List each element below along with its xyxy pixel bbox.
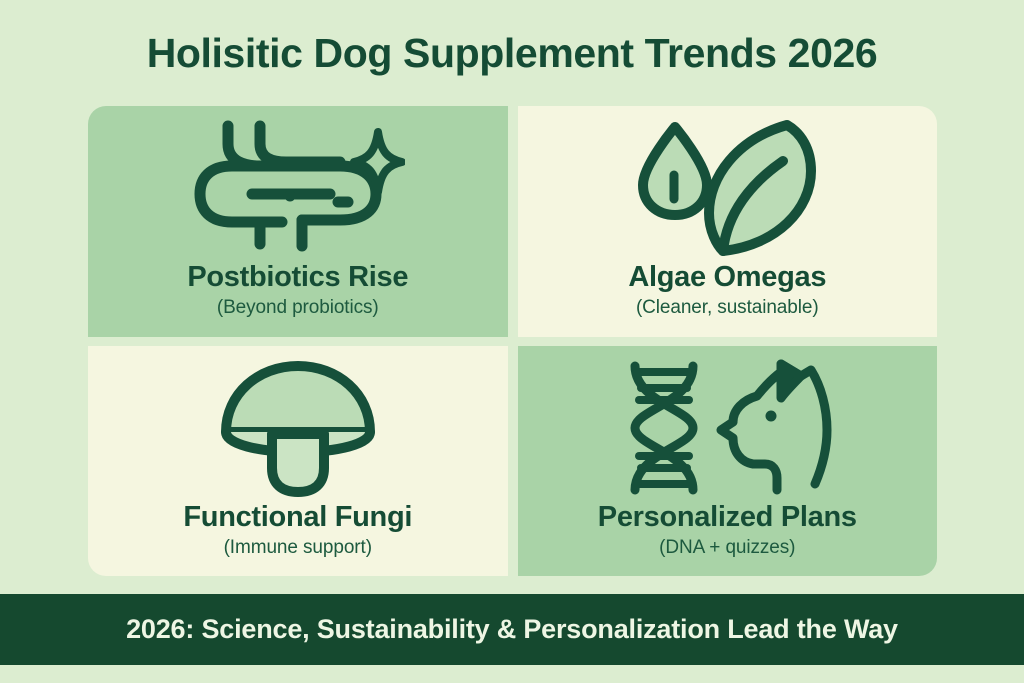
card-functional-fungi[interactable]: Functional Fungi (Immune support) xyxy=(88,346,508,577)
card-algae-omegas[interactable]: Algae Omegas (Cleaner, sustainable) xyxy=(518,106,938,337)
card-subtitle: (DNA + quizzes) xyxy=(659,537,795,559)
intestine-sparkle-icon xyxy=(190,114,405,262)
card-title: Algae Omegas xyxy=(628,262,826,292)
droplet-leaf-icon xyxy=(627,114,827,262)
footer-banner: 2026: Science, Sustainability & Personal… xyxy=(0,594,1024,665)
card-personalized-plans[interactable]: Personalized Plans (DNA + quizzes) xyxy=(518,346,938,577)
infographic-canvas: Holisitic Dog Supplement Trends 2026 xyxy=(0,0,1024,683)
card-subtitle: (Beyond probiotics) xyxy=(217,297,379,319)
mushroom-icon xyxy=(218,354,378,502)
card-title: Postbiotics Rise xyxy=(187,262,408,292)
page-title: Holisitic Dog Supplement Trends 2026 xyxy=(0,30,1024,77)
card-subtitle: (Cleaner, sustainable) xyxy=(636,297,819,319)
card-postbiotics[interactable]: Postbiotics Rise (Beyond probiotics) xyxy=(88,106,508,337)
dna-dog-icon xyxy=(615,354,840,502)
card-title: Personalized Plans xyxy=(598,502,857,532)
card-subtitle: (Immune support) xyxy=(224,537,372,559)
footer-text: 2026: Science, Sustainability & Personal… xyxy=(126,614,898,645)
trend-card-grid: Postbiotics Rise (Beyond probiotics) Alg… xyxy=(88,106,937,576)
card-title: Functional Fungi xyxy=(183,502,412,532)
